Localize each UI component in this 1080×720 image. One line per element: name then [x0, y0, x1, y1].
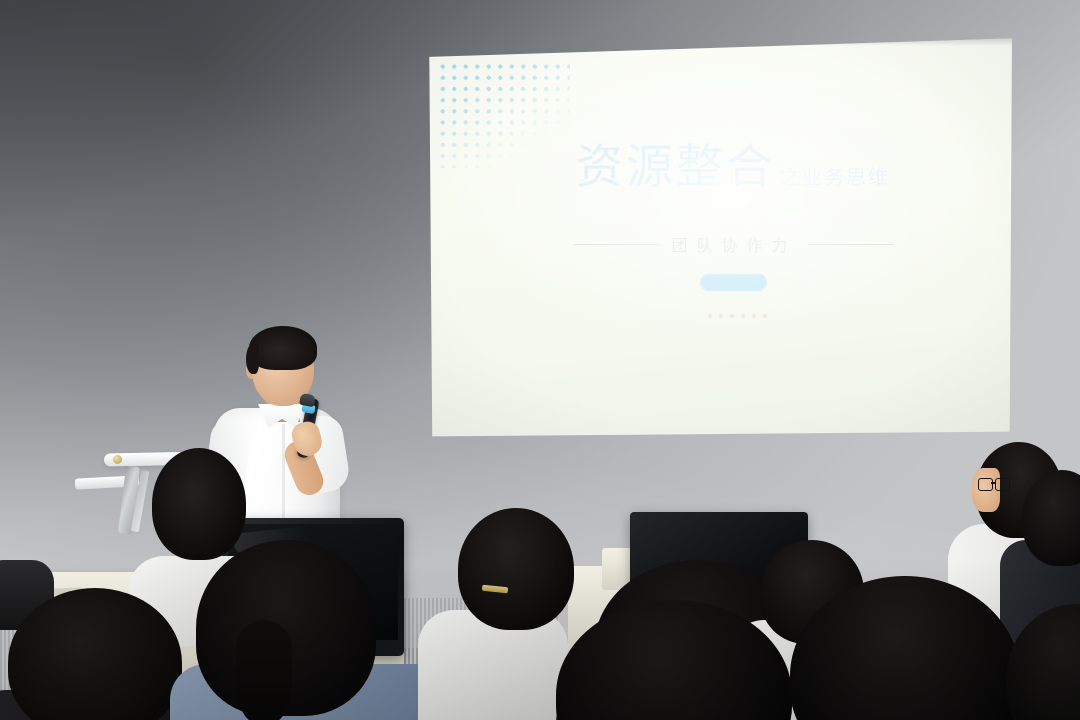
screen-vignette: [424, 36, 1012, 438]
eyeglasses-icon: [978, 478, 1012, 489]
attendee-ponytail-hair-tail: [236, 620, 292, 720]
microphone-head: [299, 393, 316, 408]
lecture-hall-scene: 资源整合 之业务思维 团队协作力: [0, 0, 1080, 720]
attendee-center-white-head: [458, 508, 574, 630]
podium-knob-icon: [113, 455, 122, 464]
attendee-back-left-head: [152, 448, 246, 560]
presenter-hair: [249, 326, 317, 370]
projection-screen: 资源整合 之业务思维 团队协作力: [424, 36, 1012, 438]
